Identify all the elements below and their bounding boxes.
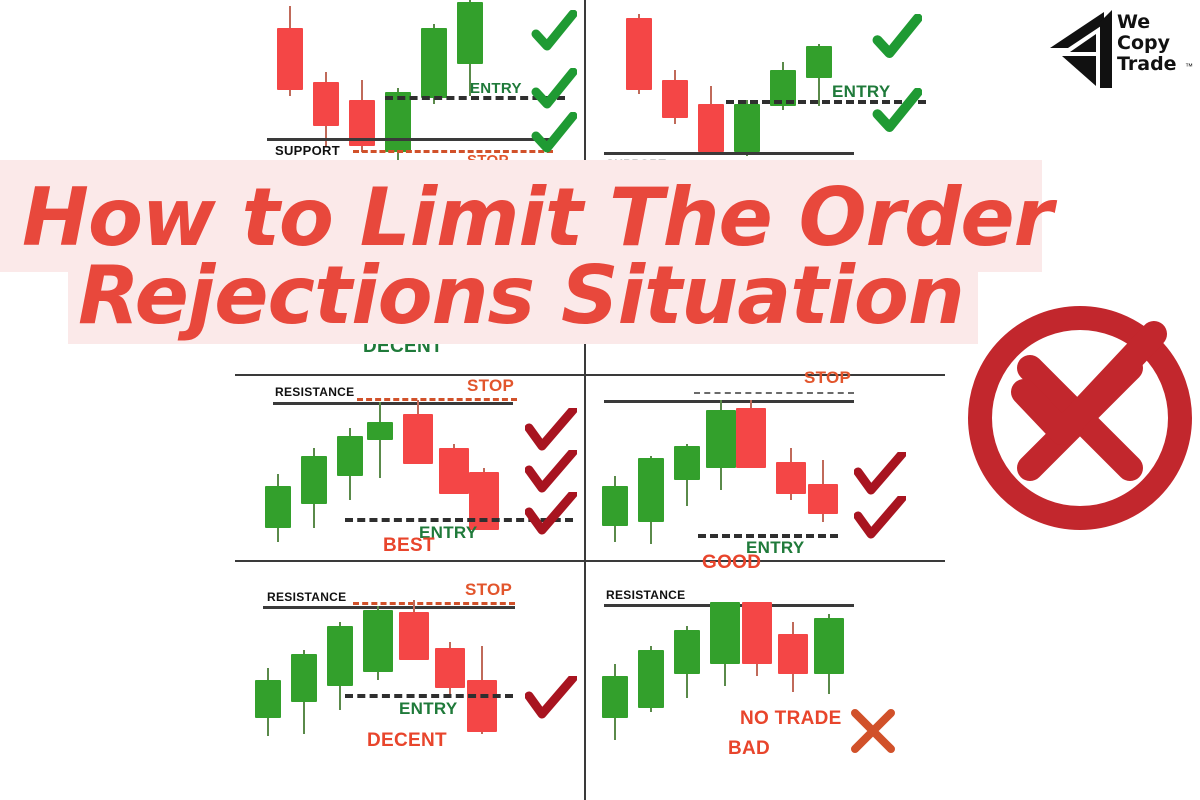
stop-label: STOP <box>465 580 512 600</box>
support-line <box>267 138 557 141</box>
headline-line-1: How to Limit The Order <box>22 176 1052 260</box>
circled-x-badge-icon <box>958 296 1200 540</box>
brand-line-3: Trade <box>1117 54 1177 75</box>
candle <box>674 400 700 560</box>
panel-top-right: ENTRY SUPPORT <box>586 0 945 170</box>
candle <box>778 606 808 786</box>
green-check-icon <box>531 10 577 61</box>
stop-line <box>694 392 854 394</box>
candle <box>806 0 832 170</box>
x-mark-icon <box>848 706 898 761</box>
candle <box>349 0 375 170</box>
entry-line <box>345 694 513 698</box>
panel-bot-left: RESISTANCE STOP <box>235 562 584 800</box>
candle <box>698 0 724 170</box>
poster-canvas: ENTRY SUPPORT STOP <box>0 0 1200 800</box>
resistance-label: RESISTANCE <box>606 588 685 602</box>
resistance-label: RESISTANCE <box>267 590 346 604</box>
candle <box>337 400 363 560</box>
entry-label: ENTRY <box>470 80 522 97</box>
candle <box>638 606 664 786</box>
candle <box>626 0 652 170</box>
headline-line-2: Rejections Situation <box>78 254 964 338</box>
candle <box>814 606 844 786</box>
candle <box>638 400 664 560</box>
candle <box>291 606 317 786</box>
candle <box>255 606 281 786</box>
candle <box>770 0 796 170</box>
panel-mid-left: DECENT RESISTANCE STOP <box>235 340 584 560</box>
candle <box>421 0 447 170</box>
candle <box>385 0 411 175</box>
stop-label: STOP <box>804 368 851 388</box>
support-label: SUPPORT <box>275 143 340 158</box>
brand-name: We Copy Trade <box>1117 12 1177 75</box>
dark-check-icon <box>525 676 577 727</box>
candle <box>602 400 628 560</box>
candle <box>734 0 760 175</box>
panel-bot-right: RESISTANCE <box>586 562 945 800</box>
candle <box>662 0 688 170</box>
verdict-label: BEST <box>383 535 435 557</box>
brand-line-1: We <box>1117 12 1177 33</box>
resistance-label: RESISTANCE <box>275 385 354 399</box>
stop-label: STOP <box>467 376 514 396</box>
green-check-icon <box>872 14 922 69</box>
candle <box>265 400 291 560</box>
panel-mid-right: STOP <box>586 340 945 560</box>
candle <box>301 400 327 560</box>
green-check-icon <box>531 112 577 163</box>
brand-line-2: Copy <box>1117 33 1177 54</box>
panel-top-left: ENTRY SUPPORT STOP <box>235 0 584 170</box>
candle <box>674 606 700 786</box>
stop-line <box>353 602 515 605</box>
entry-label: ENTRY <box>399 699 458 719</box>
green-check-icon <box>872 88 922 143</box>
candlestick-diagram: ENTRY SUPPORT STOP <box>235 0 945 800</box>
dark-check-icon <box>525 492 577 543</box>
stop-line <box>353 150 553 153</box>
no-trade-label: NO TRADE <box>740 708 842 730</box>
verdict-label: DECENT <box>367 730 447 752</box>
dark-check-icon <box>854 496 906 547</box>
candle <box>602 606 628 786</box>
support-line <box>604 152 854 155</box>
verdict-label: BAD <box>728 738 770 760</box>
trademark-symbol: ™ <box>1185 62 1193 71</box>
